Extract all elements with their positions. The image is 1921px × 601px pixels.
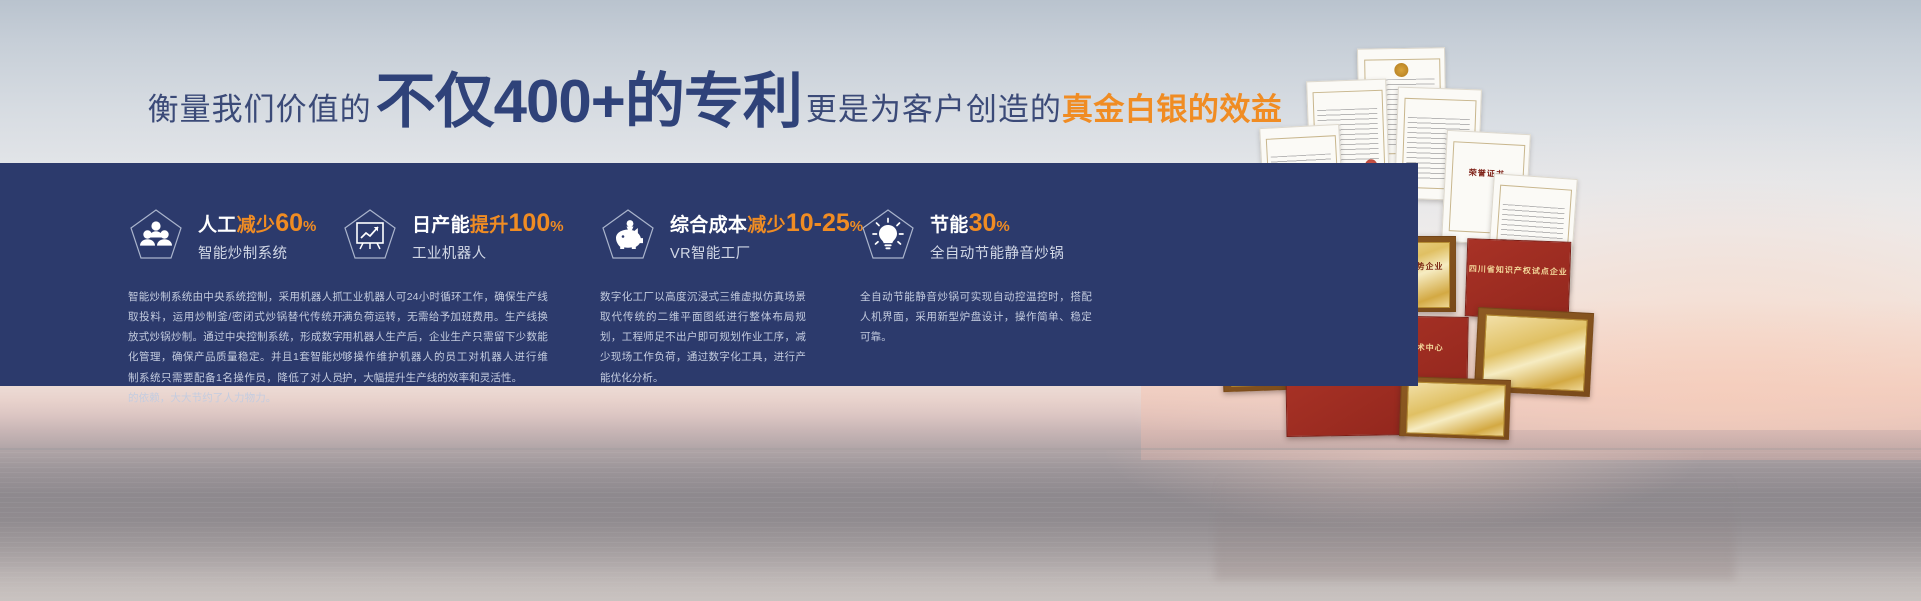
- feature-text: 综合成本减少10-25% VR智能工厂: [670, 209, 863, 263]
- feature-title-prefix: 日产能: [412, 215, 470, 236]
- feature-body: 数字化工厂以高度沉浸式三维虚拟仿真场景取代传统的二维平面图纸进行整体布局规划，工…: [600, 287, 806, 388]
- feature-title-unit: %: [550, 218, 564, 235]
- feature-title: 节能30%: [930, 209, 1064, 237]
- feature-subtitle: 全自动节能静音炒锅: [930, 242, 1064, 263]
- feature-body: 全自动节能静音炒锅可实现自动控温控时，搭配人机界面，采用新型炉盘设计，操作简单、…: [860, 287, 1092, 347]
- feature-item-energy[interactable]: 节能30% 全自动节能静音炒锅 全自动节能静音炒锅可实现自动控温控时，搭配人机界…: [846, 163, 1146, 386]
- feature-body: 工业机器人可24小时循环工作，确保生产线满负荷运转，无需给予加班费用。生产线换用…: [342, 287, 548, 388]
- feature-title-number: 30: [969, 209, 997, 237]
- feature-title-prefix: 综合成本: [670, 215, 747, 236]
- feature-header: 节能30% 全自动节能静音炒锅: [860, 207, 1146, 265]
- feature-text: 节能30% 全自动节能静音炒锅: [930, 209, 1064, 263]
- feature-title: 人工减少60%: [198, 209, 317, 237]
- feature-title-highlight: 提升: [470, 215, 509, 236]
- feature-panel: 人工减少60% 智能炒制系统 智能炒制系统由中央系统控制，采用机器人抓取投料，运…: [0, 163, 1418, 386]
- headline-highlight: 真金白银的效益: [1062, 84, 1283, 129]
- feature-item-cost[interactable]: 综合成本减少10-25% VR智能工厂 数字化工厂以高度沉浸式三维虚拟仿真场景取…: [588, 163, 846, 386]
- feature-title-number: 10-25: [786, 209, 850, 237]
- feature-title: 综合成本减少10-25%: [670, 209, 863, 237]
- feature-title-unit: %: [996, 218, 1010, 235]
- plaque-plate: [1407, 381, 1506, 436]
- feature-title-prefix: 节能: [930, 215, 969, 236]
- feature-title-unit: %: [303, 218, 317, 235]
- feature-header: 综合成本减少10-25% VR智能工厂: [600, 207, 846, 265]
- feature-item-labor[interactable]: 人工减少60% 智能炒制系统 智能炒制系统由中央系统控制，采用机器人抓取投料，运…: [0, 163, 330, 386]
- page-title: 衡量我们价值的 不仅400+的专利 更是为客户创造的 真金白银的效益: [0, 72, 1430, 142]
- feature-title: 日产能提升100%: [412, 209, 564, 237]
- headline-emphasis: 不仅400+的专利: [372, 72, 806, 132]
- feature-title-prefix: 人工: [198, 215, 237, 236]
- certificate-label: [1287, 393, 1403, 395]
- feature-body: 智能炒制系统由中央系统控制，采用机器人抓取投料，运用炒制釜/密闭式炒锅替代传统开…: [128, 287, 343, 408]
- feature-title-highlight: 减少: [747, 215, 786, 236]
- feature-subtitle: VR智能工厂: [670, 242, 863, 263]
- certificate-reflection: [1215, 470, 1735, 580]
- certificate-label: 四川省知识产权试点企业: [1467, 264, 1569, 279]
- lightbulb-icon: [860, 207, 916, 265]
- feature-subtitle: 工业机器人: [412, 242, 564, 263]
- feature-text: 人工减少60% 智能炒制系统: [198, 209, 317, 263]
- feature-header: 日产能提升100% 工业机器人: [342, 207, 588, 265]
- feature-header: 人工减少60% 智能炒制系统: [128, 207, 330, 265]
- feature-text: 日产能提升100% 工业机器人: [412, 209, 564, 263]
- feature-list: 人工减少60% 智能炒制系统 智能炒制系统由中央系统控制，采用机器人抓取投料，运…: [0, 163, 1418, 386]
- feature-title-number: 100: [509, 209, 551, 237]
- feature-item-capacity[interactable]: 日产能提升100% 工业机器人 工业机器人可24小时循环工作，确保生产线满负荷运…: [330, 163, 588, 386]
- banner-stage: 荣誉证书 证 书 高新技术企业 成都市知识产权优势企业 四川省知识产权试点企业 …: [0, 0, 1921, 601]
- feature-title-number: 60: [275, 209, 303, 237]
- feature-title-highlight: 减少: [237, 215, 276, 236]
- piggy-bank-icon: [600, 207, 656, 265]
- headline-lead: 衡量我们价值的: [148, 84, 372, 129]
- people-group-icon: [128, 207, 184, 265]
- chart-board-icon: [342, 207, 398, 265]
- headline-middle: 更是为客户创造的: [806, 84, 1062, 129]
- feature-subtitle: 智能炒制系统: [198, 242, 317, 263]
